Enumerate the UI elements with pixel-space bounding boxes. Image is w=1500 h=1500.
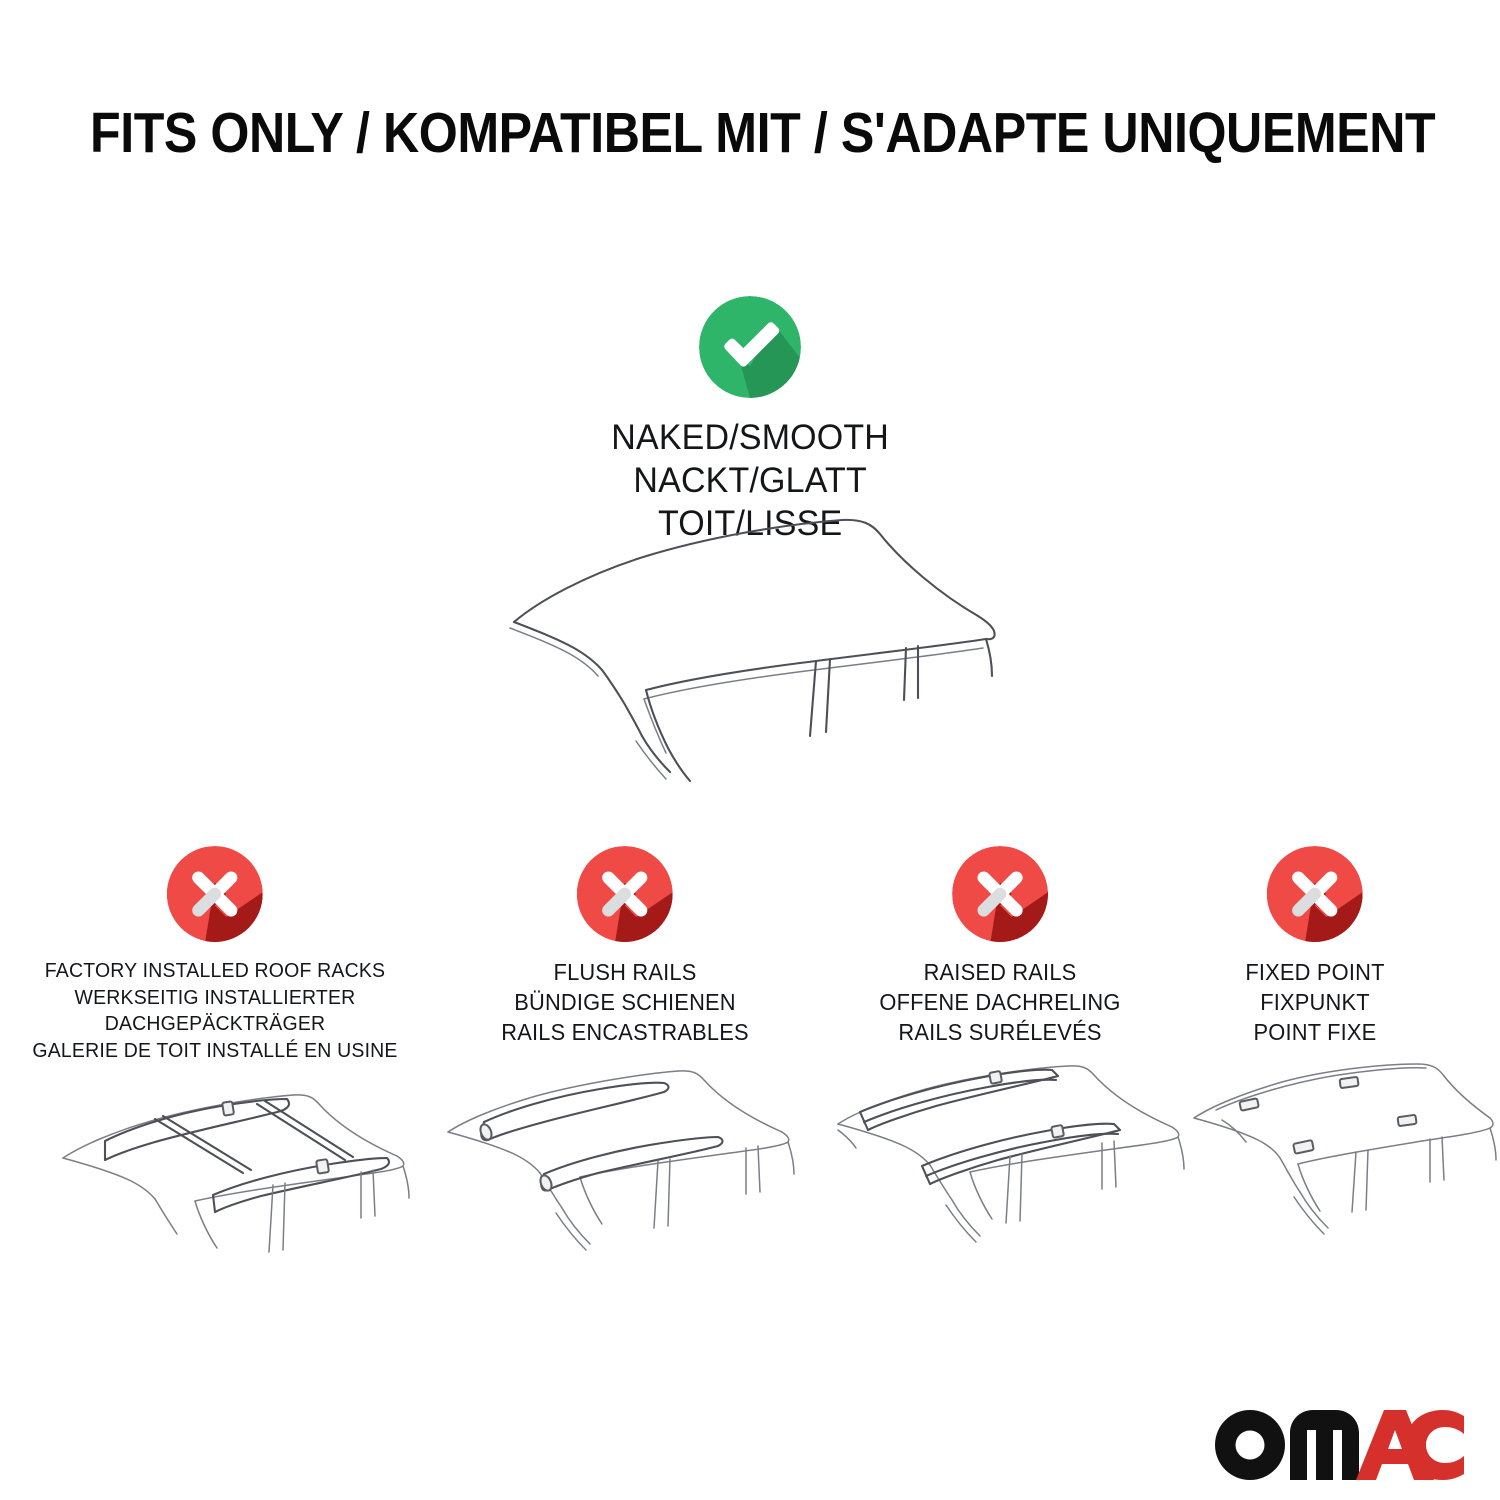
cross-circle-icon: [577, 846, 673, 942]
cross-circle-icon: [1267, 846, 1363, 942]
cross-circle-icon: [952, 846, 1048, 942]
caption-line: DACHGEPÄCKTRÄGER: [32, 1011, 397, 1038]
reject-column-flush-rails: FLUSH RAILS BÜNDIGE SCHIENEN RAILS ENCAS…: [495, 846, 756, 1048]
smooth-roof-illustration: [470, 500, 1030, 800]
reject-column-raised-rails: RAISED RAILS OFFENE DACHRELING RAILS SUR…: [873, 846, 1127, 1048]
reject-column-fixed-point: FIXED POINT FIXPUNKT POINT FIXE: [1242, 846, 1389, 1048]
fixed-point-illustration: [1190, 1062, 1500, 1262]
caption-line: RAISED RAILS: [879, 958, 1120, 988]
reject-caption: FIXED POINT FIXPUNKT POINT FIXE: [1242, 958, 1389, 1048]
reject-caption: RAISED RAILS OFFENE DACHRELING RAILS SUR…: [873, 958, 1127, 1048]
raised-rails-illustration: [830, 1062, 1250, 1262]
caption-line: NACKT/GLATT: [611, 459, 889, 502]
omac-logo-letter-m: [1290, 1410, 1359, 1480]
caption-line: RAILS ENCASTRABLES: [501, 1018, 749, 1048]
reject-caption: FLUSH RAILS BÜNDIGE SCHIENEN RAILS ENCAS…: [495, 958, 756, 1048]
caption-line: OFFENE DACHRELING: [879, 988, 1120, 1018]
caption-line: NAKED/SMOOTH: [611, 416, 889, 459]
caption-line: FIXED POINT: [1245, 958, 1384, 988]
caption-line: FIXPUNKT: [1245, 988, 1384, 1018]
omac-logo: [1212, 1406, 1464, 1484]
caption-line: RAILS SURÉLEVÉS: [879, 1018, 1120, 1048]
caption-line: FLUSH RAILS: [501, 958, 749, 988]
caption-line: BÜNDIGE SCHIENEN: [501, 988, 749, 1018]
factory-roof-rack-illustration: [45, 1062, 465, 1262]
caption-line: WERKSEITIG INSTALLIERTER: [32, 985, 397, 1012]
infographic-page: FITS ONLY / KOMPATIBEL MIT / S'ADAPTE UN…: [0, 0, 1500, 1500]
caption-line: GALERIE DE TOIT INSTALLÉ EN USINE: [32, 1038, 397, 1065]
flush-rails-illustration: [440, 1062, 860, 1262]
page-title: FITS ONLY / KOMPATIBEL MIT / S'ADAPTE UN…: [90, 100, 1410, 166]
cross-circle-icon: [167, 846, 263, 942]
reject-caption: FACTORY INSTALLED ROOF RACKS WERKSEITIG …: [23, 958, 407, 1065]
reject-column-factory-roof-racks: FACTORY INSTALLED ROOF RACKS WERKSEITIG …: [23, 846, 407, 1065]
check-circle-icon: [699, 296, 801, 398]
caption-line: FACTORY INSTALLED ROOF RACKS: [32, 958, 397, 985]
caption-line: POINT FIXE: [1245, 1018, 1384, 1048]
omac-logo-letter-o: [1215, 1410, 1285, 1480]
